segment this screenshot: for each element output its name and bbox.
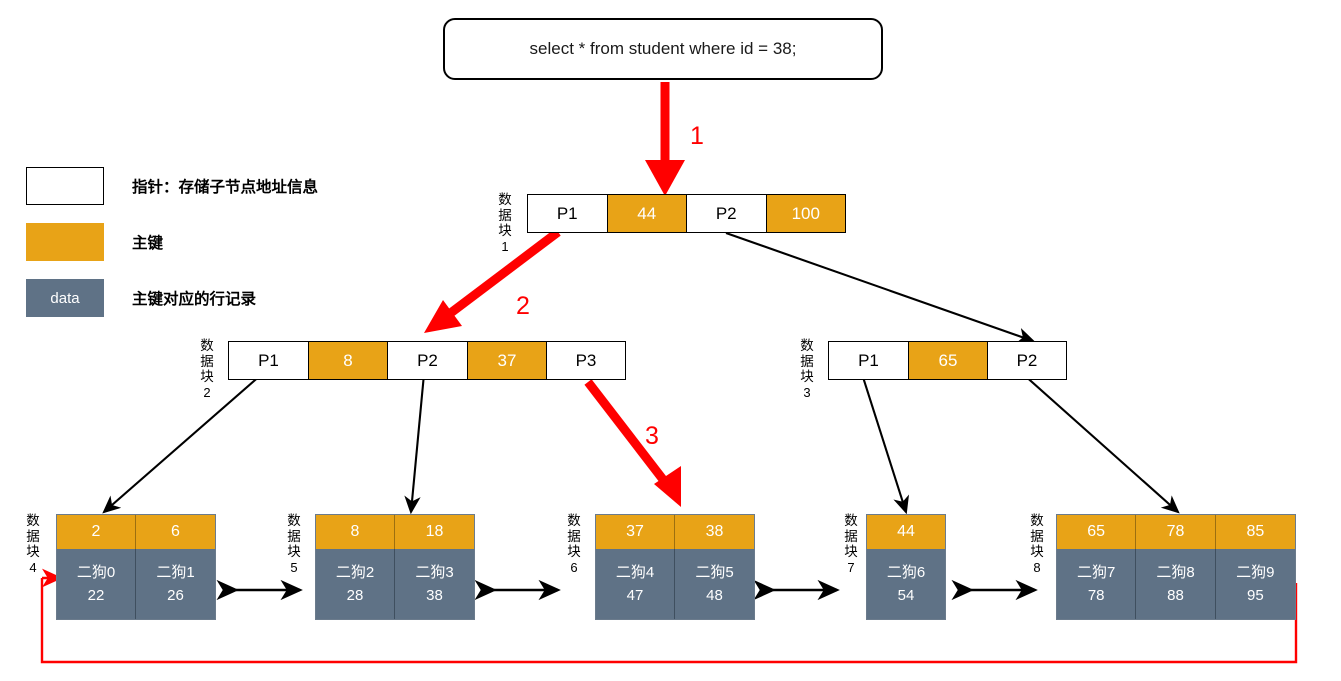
leaf4-key-1[interactable]: 6 — [136, 515, 215, 549]
block-label-6-num: 6 — [563, 560, 585, 576]
leaf8-record-1-value: 88 — [1167, 584, 1184, 607]
leaf-node-block-6[interactable]: 37 38 二狗4 47 二狗5 48 — [595, 514, 755, 620]
block-label-1-text: 数据块 — [494, 192, 516, 239]
legend-swatch-pointer — [26, 167, 104, 205]
node2-cell-key-8[interactable]: 8 — [309, 342, 388, 379]
leaf6-key-1[interactable]: 38 — [675, 515, 754, 549]
block-label-6-text: 数据块 — [563, 513, 585, 560]
leaf8-key-row: 65 78 85 — [1057, 515, 1295, 549]
node2-cell-p2[interactable]: P2 — [388, 342, 468, 379]
leaf4-record-0-name: 二狗0 — [77, 561, 115, 584]
index-node-block-3[interactable]: P1 65 P2 — [828, 341, 1067, 380]
node3-cell-key-65[interactable]: 65 — [909, 342, 988, 379]
leaf5-key-1[interactable]: 18 — [395, 515, 474, 549]
leaf6-key-0[interactable]: 37 — [596, 515, 675, 549]
leaf7-key-0[interactable]: 44 — [867, 515, 945, 549]
edge-block1-p2-to-block3 — [726, 233, 1033, 341]
leaf-node-block-5[interactable]: 8 18 二狗2 28 二狗3 38 — [315, 514, 475, 620]
node1-cell-key-44[interactable]: 44 — [608, 195, 688, 232]
index-node-block-1[interactable]: P1 44 P2 100 — [527, 194, 846, 233]
node2-cell-p1[interactable]: P1 — [229, 342, 309, 379]
leaf5-record-0-name: 二狗2 — [336, 561, 374, 584]
block-label-2: 数据块 2 — [196, 338, 218, 400]
leaf4-record-1-value: 26 — [167, 584, 184, 607]
node1-cell-p2[interactable]: P2 — [687, 195, 767, 232]
legend-label-data: 主键对应的行记录 — [132, 287, 256, 309]
node3-cell-p2[interactable]: P2 — [988, 342, 1066, 379]
leaf6-record-0-name: 二狗4 — [616, 561, 654, 584]
step-label-3: 3 — [645, 422, 659, 451]
node3-cell-p1[interactable]: P1 — [829, 342, 909, 379]
edge-block3-p2-to-block8 — [1023, 374, 1178, 512]
block-label-3: 数据块 3 — [796, 338, 818, 400]
edge-block2-p2-to-block5 — [411, 374, 424, 512]
step-2-arrow — [424, 232, 558, 333]
leaf4-data-row: 二狗0 22 二狗1 26 — [57, 549, 215, 619]
edge-block2-p1-to-block4 — [104, 374, 262, 512]
leaf8-record-2-name: 二狗9 — [1236, 561, 1274, 584]
leaf8-key-1[interactable]: 78 — [1136, 515, 1215, 549]
leaf8-key-2[interactable]: 85 — [1216, 515, 1295, 549]
leaf4-record-1[interactable]: 二狗1 26 — [136, 549, 215, 619]
sql-query-box: select * from student where id = 38; — [443, 18, 883, 80]
edge-block3-p1-to-block7 — [862, 374, 906, 512]
block-label-6: 数据块 6 — [563, 513, 585, 575]
block-label-1: 数据块 1 — [494, 192, 516, 254]
sql-query-text: select * from student where id = 38; — [530, 39, 797, 59]
legend-label-key: 主键 — [132, 231, 163, 253]
leaf8-record-2[interactable]: 二狗9 95 — [1216, 549, 1295, 619]
node2-cell-key-37[interactable]: 37 — [468, 342, 547, 379]
leaf7-record-0[interactable]: 二狗6 54 — [867, 549, 945, 619]
block-label-4: 数据块 4 — [22, 513, 44, 575]
step-1-arrow — [645, 82, 685, 196]
block-label-4-text: 数据块 — [22, 513, 44, 560]
leaf4-record-1-name: 二狗1 — [156, 561, 194, 584]
leaf4-key-row: 2 6 — [57, 515, 215, 549]
block-label-2-num: 2 — [196, 385, 218, 401]
legend: 指针：存储子节点地址信息 主键 data 主键对应的行记录 — [26, 167, 318, 335]
leaf-node-block-4[interactable]: 2 6 二狗0 22 二狗1 26 — [56, 514, 216, 620]
legend-item-key: 主键 — [26, 223, 318, 261]
leaf8-record-0[interactable]: 二狗7 78 — [1057, 549, 1136, 619]
block-label-1-num: 1 — [494, 239, 516, 255]
leaf5-record-0-value: 28 — [347, 584, 364, 607]
leaf5-data-row: 二狗2 28 二狗3 38 — [316, 549, 474, 619]
step-3-arrow — [588, 382, 681, 507]
block-label-2-text: 数据块 — [196, 338, 218, 385]
leaf8-data-row: 二狗7 78 二狗8 88 二狗9 95 — [1057, 549, 1295, 619]
leaf7-data-row: 二狗6 54 — [867, 549, 945, 619]
leaf8-record-1-name: 二狗8 — [1156, 561, 1194, 584]
leaf6-record-0[interactable]: 二狗4 47 — [596, 549, 675, 619]
block-label-8-text: 数据块 — [1026, 513, 1048, 560]
leaf4-key-0[interactable]: 2 — [57, 515, 136, 549]
leaf5-record-1[interactable]: 二狗3 38 — [395, 549, 474, 619]
leaf5-record-1-name: 二狗3 — [415, 561, 453, 584]
leaf5-key-0[interactable]: 8 — [316, 515, 395, 549]
leaf5-record-0[interactable]: 二狗2 28 — [316, 549, 395, 619]
node1-cell-p1[interactable]: P1 — [528, 195, 608, 232]
leaf-node-block-8[interactable]: 65 78 85 二狗7 78 二狗8 88 二狗9 95 — [1056, 514, 1296, 620]
leaf6-data-row: 二狗4 47 二狗5 48 — [596, 549, 754, 619]
leaf-node-block-7[interactable]: 44 二狗6 54 — [866, 514, 946, 620]
block-label-5: 数据块 5 — [283, 513, 305, 575]
leaf8-record-2-value: 95 — [1247, 584, 1264, 607]
leaf8-record-0-name: 二狗7 — [1077, 561, 1115, 584]
leaf4-record-0[interactable]: 二狗0 22 — [57, 549, 136, 619]
leaf7-record-0-value: 54 — [898, 584, 915, 607]
leaf6-record-1[interactable]: 二狗5 48 — [675, 549, 754, 619]
leaf7-key-row: 44 — [867, 515, 945, 549]
block-label-5-num: 5 — [283, 560, 305, 576]
leaf8-record-1[interactable]: 二狗8 88 — [1136, 549, 1215, 619]
node2-cell-p3[interactable]: P3 — [547, 342, 625, 379]
step-label-1: 1 — [690, 122, 704, 151]
legend-item-pointer: 指针：存储子节点地址信息 — [26, 167, 318, 205]
leaf7-record-0-name: 二狗6 — [887, 561, 925, 584]
index-node-block-2[interactable]: P1 8 P2 37 P3 — [228, 341, 626, 380]
b-plus-tree-diagram: select * from student where id = 38; 指针：… — [0, 0, 1341, 681]
leaf6-record-0-value: 47 — [627, 584, 644, 607]
block-label-7-text: 数据块 — [840, 513, 862, 560]
block-label-8-num: 8 — [1026, 560, 1048, 576]
leaf6-key-row: 37 38 — [596, 515, 754, 549]
block-label-5-text: 数据块 — [283, 513, 305, 560]
block-label-3-text: 数据块 — [796, 338, 818, 385]
block-label-7: 数据块 7 — [840, 513, 862, 575]
block-label-3-num: 3 — [796, 385, 818, 401]
leaf4-record-0-value: 22 — [88, 584, 105, 607]
leaf6-record-1-value: 48 — [706, 584, 723, 607]
block-label-4-num: 4 — [22, 560, 44, 576]
legend-item-data: data 主键对应的行记录 — [26, 279, 318, 317]
legend-swatch-data: data — [26, 279, 104, 317]
block-label-8: 数据块 8 — [1026, 513, 1048, 575]
leaf8-key-0[interactable]: 65 — [1057, 515, 1136, 549]
leaf5-key-row: 8 18 — [316, 515, 474, 549]
node1-cell-key-100[interactable]: 100 — [767, 195, 846, 232]
leaf8-record-0-value: 78 — [1088, 584, 1105, 607]
legend-swatch-key — [26, 223, 104, 261]
block-label-7-num: 7 — [840, 560, 862, 576]
leaf6-record-1-name: 二狗5 — [695, 561, 733, 584]
leaf5-record-1-value: 38 — [426, 584, 443, 607]
step-label-2: 2 — [516, 292, 530, 321]
legend-label-pointer: 指针：存储子节点地址信息 — [132, 175, 318, 197]
